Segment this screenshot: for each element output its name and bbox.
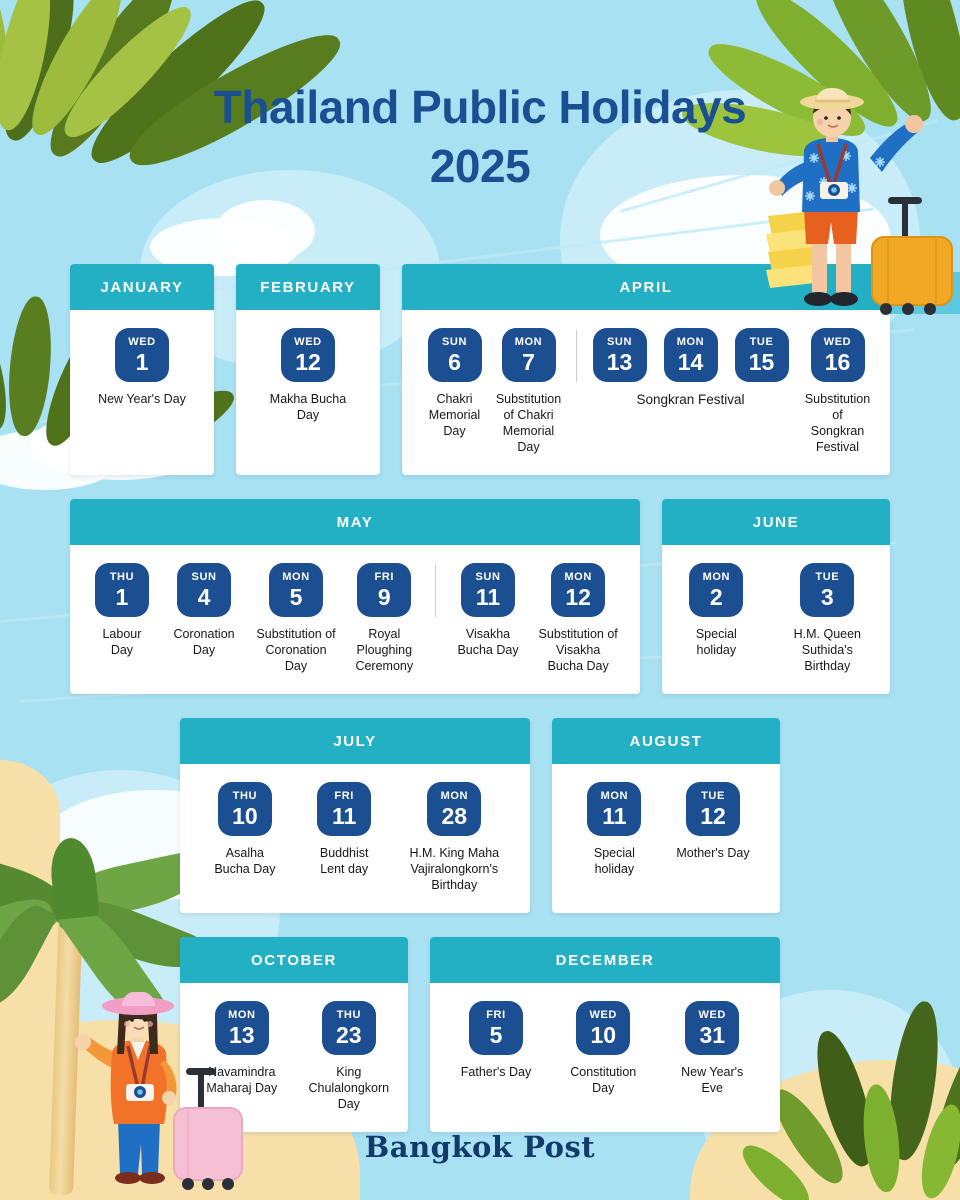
day-number: 12: [700, 805, 726, 828]
day-number: 13: [607, 351, 633, 374]
month-card-december[interactable]: DECEMBER FRI 5 Father's Day WED 10 Const…: [430, 937, 780, 1132]
month-card-header: JULY: [180, 718, 530, 764]
month-card-body: SUN 6 Chakri Memorial Day MON 7 Substitu…: [402, 310, 890, 475]
holiday-entry[interactable]: WED 16 Substitution of Songkran Festival: [801, 328, 875, 455]
date-chip: MON 7: [502, 328, 556, 382]
month-card-body: THU 1 Labour Day SUN 4 Coronation Day MO…: [70, 545, 640, 694]
month-card-july[interactable]: JULY THU 10 Asalha Bucha Day FRI 11 Budd…: [180, 718, 530, 913]
holiday-name: Father's Day: [461, 1064, 531, 1080]
date-chip-group: SUN 13 MON 14 TUE 15: [593, 328, 789, 382]
day-number: 9: [378, 586, 391, 609]
day-number: 10: [590, 1024, 616, 1047]
date-chip: MON 12: [551, 563, 605, 617]
date-chip: WED 10: [576, 1001, 630, 1055]
holiday-entry[interactable]: SUN 4 Coronation Day: [160, 563, 248, 658]
date-chip: TUE 3: [800, 563, 854, 617]
date-chip: WED 31: [685, 1001, 739, 1055]
date-chip: FRI 11: [317, 782, 371, 836]
holiday-name: Substitution of Chakri Memorial Day: [496, 391, 561, 455]
holiday-name: New Year's Day: [98, 391, 186, 407]
day-number: 3: [821, 586, 834, 609]
day-number: 2: [710, 586, 723, 609]
date-chip: SUN 6: [428, 328, 482, 382]
month-card-june[interactable]: JUNE MON 2 Special holiday TUE 3 H.M. Qu…: [662, 499, 890, 694]
day-of-week: THU: [233, 791, 257, 802]
holiday-name: Labour Day: [92, 626, 152, 658]
holiday-entry-group-songkran[interactable]: SUN 13 MON 14 TUE 15 Songkran Festival: [587, 328, 795, 408]
holiday-name: Special holiday: [682, 626, 751, 658]
date-chip: SUN 13: [593, 328, 647, 382]
day-number: 28: [442, 805, 468, 828]
holiday-entry[interactable]: WED 1 New Year's Day: [90, 328, 194, 407]
holiday-name: Chakri Memorial Day: [426, 391, 484, 439]
day-number: 1: [136, 351, 149, 374]
day-of-week: WED: [824, 337, 851, 348]
holiday-name: King Chulalongkorn Day: [309, 1064, 390, 1112]
day-of-week: THU: [110, 572, 134, 583]
day-of-week: TUE: [750, 337, 774, 348]
holiday-name: Songkran Festival: [636, 391, 744, 408]
month-card-january[interactable]: JANUARY WED 1 New Year's Day: [70, 264, 214, 475]
holiday-entry[interactable]: MON 5 Substitution of Coronation Day: [248, 563, 344, 674]
date-chip: THU 23: [322, 1001, 376, 1055]
day-of-week: WED: [294, 337, 321, 348]
day-of-week: TUE: [815, 572, 839, 583]
holiday-entry[interactable]: THU 23 King Chulalongkorn Day: [302, 1001, 396, 1112]
date-chip: THU 10: [218, 782, 272, 836]
holiday-name: Coronation Day: [168, 626, 240, 658]
day-of-week: SUN: [607, 337, 632, 348]
month-row-3: JULY THU 10 Asalha Bucha Day FRI 11 Budd…: [70, 718, 890, 913]
day-number: 6: [448, 351, 461, 374]
holiday-entry[interactable]: MON 7 Substitution of Chakri Memorial Da…: [492, 328, 566, 455]
date-chip: SUN 4: [177, 563, 231, 617]
holiday-entry[interactable]: THU 1 Labour Day: [84, 563, 160, 658]
date-chip: MON 14: [664, 328, 718, 382]
holiday-entry[interactable]: MON 12 Substitution of Visakha Bucha Day: [530, 563, 626, 674]
month-card-body: WED 1 New Year's Day: [70, 310, 214, 475]
holiday-name: New Year's Eve: [675, 1064, 749, 1096]
day-number: 12: [565, 586, 591, 609]
day-of-week: FRI: [486, 1010, 506, 1021]
day-number: 11: [602, 805, 626, 828]
month-card-header: OCTOBER: [180, 937, 408, 983]
date-chip: MON 2: [689, 563, 743, 617]
day-number: 10: [232, 805, 258, 828]
day-number: 4: [198, 586, 211, 609]
day-of-week: THU: [337, 1010, 361, 1021]
month-card-header: DECEMBER: [430, 937, 780, 983]
day-number: 11: [332, 805, 356, 828]
month-card-body: MON 11 Special holiday TUE 12 Mother's D…: [552, 764, 780, 913]
month-card-body: THU 10 Asalha Bucha Day FRI 11 Buddhist …: [180, 764, 530, 913]
date-chip: MON 11: [587, 782, 641, 836]
section-divider: [435, 565, 436, 617]
date-chip: FRI 5: [469, 1001, 523, 1055]
day-number: 12: [295, 351, 321, 374]
day-number: 13: [229, 1024, 255, 1047]
date-chip: WED 1: [115, 328, 169, 382]
month-card-august[interactable]: AUGUST MON 11 Special holiday TUE 12 Mot…: [552, 718, 780, 913]
day-number: 5: [290, 586, 303, 609]
holiday-entry[interactable]: THU 10 Asalha Bucha Day: [200, 782, 290, 877]
holiday-name: Substitution of Visakha Bucha Day: [538, 626, 618, 674]
yellow-suitcase-illustration: [868, 195, 960, 317]
holiday-entry[interactable]: TUE 12 Mother's Day: [668, 782, 757, 861]
month-card-header: FEBRUARY: [236, 264, 380, 310]
date-chip: FRI 9: [357, 563, 411, 617]
month-card-header: AUGUST: [552, 718, 780, 764]
cloud: [215, 200, 315, 262]
day-of-week: MON: [228, 1010, 255, 1021]
holiday-entry[interactable]: WED 12 Makha Bucha Day: [250, 328, 366, 423]
month-card-body: MON 2 Special holiday TUE 3 H.M. Queen S…: [662, 545, 890, 694]
day-of-week: MON: [282, 572, 309, 583]
day-number: 14: [678, 351, 704, 374]
date-chip: WED 12: [281, 328, 335, 382]
date-chip: TUE 15: [735, 328, 789, 382]
holiday-entry[interactable]: MON 11 Special holiday: [574, 782, 654, 877]
day-of-week: SUN: [476, 572, 501, 583]
day-of-week: MON: [564, 572, 591, 583]
holiday-entry[interactable]: FRI 11 Buddhist Lent day: [304, 782, 385, 877]
day-of-week: MON: [601, 791, 628, 802]
month-card-body: WED 12 Makha Bucha Day: [236, 310, 380, 475]
month-card-header: JANUARY: [70, 264, 214, 310]
day-number: 7: [522, 351, 535, 374]
day-of-week: MON: [703, 572, 730, 583]
day-of-week: FRI: [334, 791, 354, 802]
day-of-week: SUN: [192, 572, 217, 583]
date-chip: TUE 12: [686, 782, 740, 836]
day-of-week: TUE: [701, 791, 725, 802]
day-number: 5: [490, 1024, 503, 1047]
date-chip: MON 28: [427, 782, 481, 836]
holiday-entry[interactable]: SUN 11 Visakha Bucha Day: [446, 563, 531, 658]
pink-suitcase-illustration: [172, 1068, 248, 1192]
day-number: 11: [476, 586, 500, 609]
month-card-header: MAY: [70, 499, 640, 545]
day-of-week: MON: [441, 791, 468, 802]
day-of-week: WED: [590, 1010, 617, 1021]
holiday-name: H.M. Queen Suthida's Birthday: [785, 626, 870, 674]
day-number: 31: [699, 1024, 725, 1047]
day-of-week: FRI: [375, 572, 395, 583]
day-of-week: MON: [515, 337, 542, 348]
day-number: 16: [825, 351, 851, 374]
day-number: 23: [336, 1024, 362, 1047]
day-of-week: WED: [128, 337, 155, 348]
holiday-entry[interactable]: WED 10 Constitution Day: [553, 1001, 653, 1096]
section-divider: [576, 330, 577, 382]
holiday-entry[interactable]: SUN 6 Chakri Memorial Day: [418, 328, 492, 439]
holiday-name: Makha Bucha Day: [258, 391, 358, 423]
holiday-name: Mother's Day: [676, 845, 749, 861]
holiday-name: Special holiday: [582, 845, 646, 877]
holiday-name: Royal Ploughing Ceremony: [352, 626, 417, 674]
day-number: 15: [749, 351, 775, 374]
date-chip: WED 16: [811, 328, 865, 382]
day-of-week: SUN: [442, 337, 467, 348]
holiday-entry[interactable]: WED 31 New Year's Eve: [667, 1001, 757, 1096]
date-chip: THU 1: [95, 563, 149, 617]
holiday-name: Constitution Day: [561, 1064, 645, 1096]
date-chip: SUN 11: [461, 563, 515, 617]
month-card-february[interactable]: FEBRUARY WED 12 Makha Bucha Day: [236, 264, 380, 475]
holiday-entry[interactable]: TUE 3 H.M. Queen Suthida's Birthday: [777, 563, 878, 674]
month-card-may[interactable]: MAY THU 1 Labour Day SUN 4 Coronation Da…: [70, 499, 640, 694]
holiday-name: Visakha Bucha Day: [454, 626, 523, 658]
day-of-week: WED: [699, 1010, 726, 1021]
holiday-name: Substitution of Coronation Day: [256, 626, 336, 674]
holiday-entry[interactable]: FRI 5 Father's Day: [453, 1001, 539, 1080]
holiday-name: H.M. King Maha Vajiralongkorn's Birthday: [407, 845, 502, 893]
date-chip: MON 5: [269, 563, 323, 617]
month-row-2: MAY THU 1 Labour Day SUN 4 Coronation Da…: [70, 499, 890, 694]
month-card-header: JUNE: [662, 499, 890, 545]
holiday-entry[interactable]: FRI 9 Royal Ploughing Ceremony: [344, 563, 425, 674]
month-card-body: FRI 5 Father's Day WED 10 Constitution D…: [430, 983, 780, 1132]
holiday-name: Buddhist Lent day: [312, 845, 377, 877]
day-number: 1: [116, 586, 129, 609]
holiday-entry[interactable]: MON 2 Special holiday: [674, 563, 759, 658]
day-of-week: MON: [677, 337, 704, 348]
holiday-name: Substitution of Songkran Festival: [805, 391, 870, 455]
holiday-entry[interactable]: MON 28 H.M. King Maha Vajiralongkorn's B…: [399, 782, 510, 893]
holiday-name: Asalha Bucha Day: [208, 845, 282, 877]
